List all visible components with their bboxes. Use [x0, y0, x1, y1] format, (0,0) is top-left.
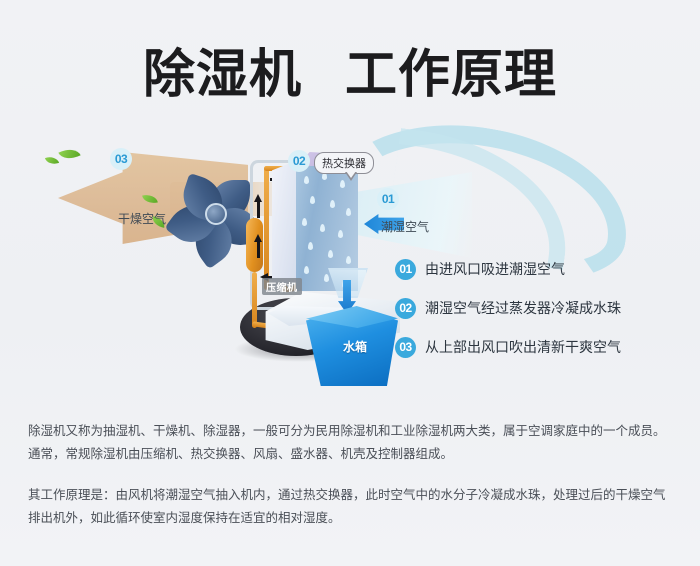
legend-badge-01: 01	[395, 259, 416, 280]
list-item: 03 从上部出风口吹出清新干爽空气	[395, 336, 685, 358]
legend-text-01: 由进风口吸进潮湿空气	[425, 259, 565, 279]
water-tank-label: 水箱	[320, 338, 390, 355]
flow-arrow-stem	[257, 242, 260, 258]
heat-exchanger-callout-bubble: 热交换器	[314, 152, 374, 174]
flow-arrow-up-icon	[254, 194, 262, 202]
paragraph-1: 除湿机又称为抽湿机、干燥机、除湿器，一般可分为民用除湿机和工业除湿机两大类，属于…	[28, 420, 676, 466]
paragraph-2: 其工作原理是：由风机将潮湿空气抽入机内，通过热交换器，此时空气中的水分子冷凝成水…	[28, 484, 676, 530]
list-item: 02 潮湿空气经过蒸发器冷凝成水珠	[395, 297, 685, 319]
diagram-label-humid-air: 潮湿空气	[381, 218, 429, 235]
leaf-icon	[45, 154, 59, 166]
flow-arrow-stem	[257, 202, 260, 218]
legend-badge-03: 03	[395, 337, 416, 358]
legend-text-03: 从上部出风口吹出清新干爽空气	[425, 337, 621, 357]
leaf-icon	[58, 144, 80, 163]
coil-return-pipe	[252, 272, 257, 328]
coil-pipe	[264, 166, 269, 290]
compressor-label: 压缩机	[262, 278, 302, 295]
fan-hub	[205, 203, 227, 225]
page-title-part2: 工作原理	[345, 46, 557, 104]
accumulator	[246, 218, 263, 272]
callout-bubble-tail	[345, 172, 357, 181]
list-item: 01 由进风口吸进潮湿空气	[395, 258, 685, 280]
diagram-badge-01: 01	[377, 188, 399, 210]
legend-badge-02: 02	[395, 298, 416, 319]
legend-list: 01 由进风口吸进潮湿空气 02 潮湿空气经过蒸发器冷凝成水珠 03 从上部出风…	[395, 258, 685, 375]
diagram-badge-03: 03	[110, 148, 132, 170]
page-title: 除湿机 工作原理	[0, 32, 700, 107]
evaporator-side-panel	[272, 160, 298, 290]
legend-text-02: 潮湿空气经过蒸发器冷凝成水珠	[425, 298, 621, 318]
diagram-label-dry-air: 干燥空气	[118, 210, 166, 227]
flow-arrow-up-icon	[254, 234, 262, 242]
description-block: 除湿机又称为抽湿机、干燥机、除湿器，一般可分为民用除湿机和工业除湿机两大类，属于…	[28, 420, 676, 530]
page-title-part1: 除湿机	[143, 46, 302, 104]
infographic-page: 除湿机 工作原理	[0, 0, 700, 566]
diagram-badge-02: 02	[288, 150, 310, 172]
